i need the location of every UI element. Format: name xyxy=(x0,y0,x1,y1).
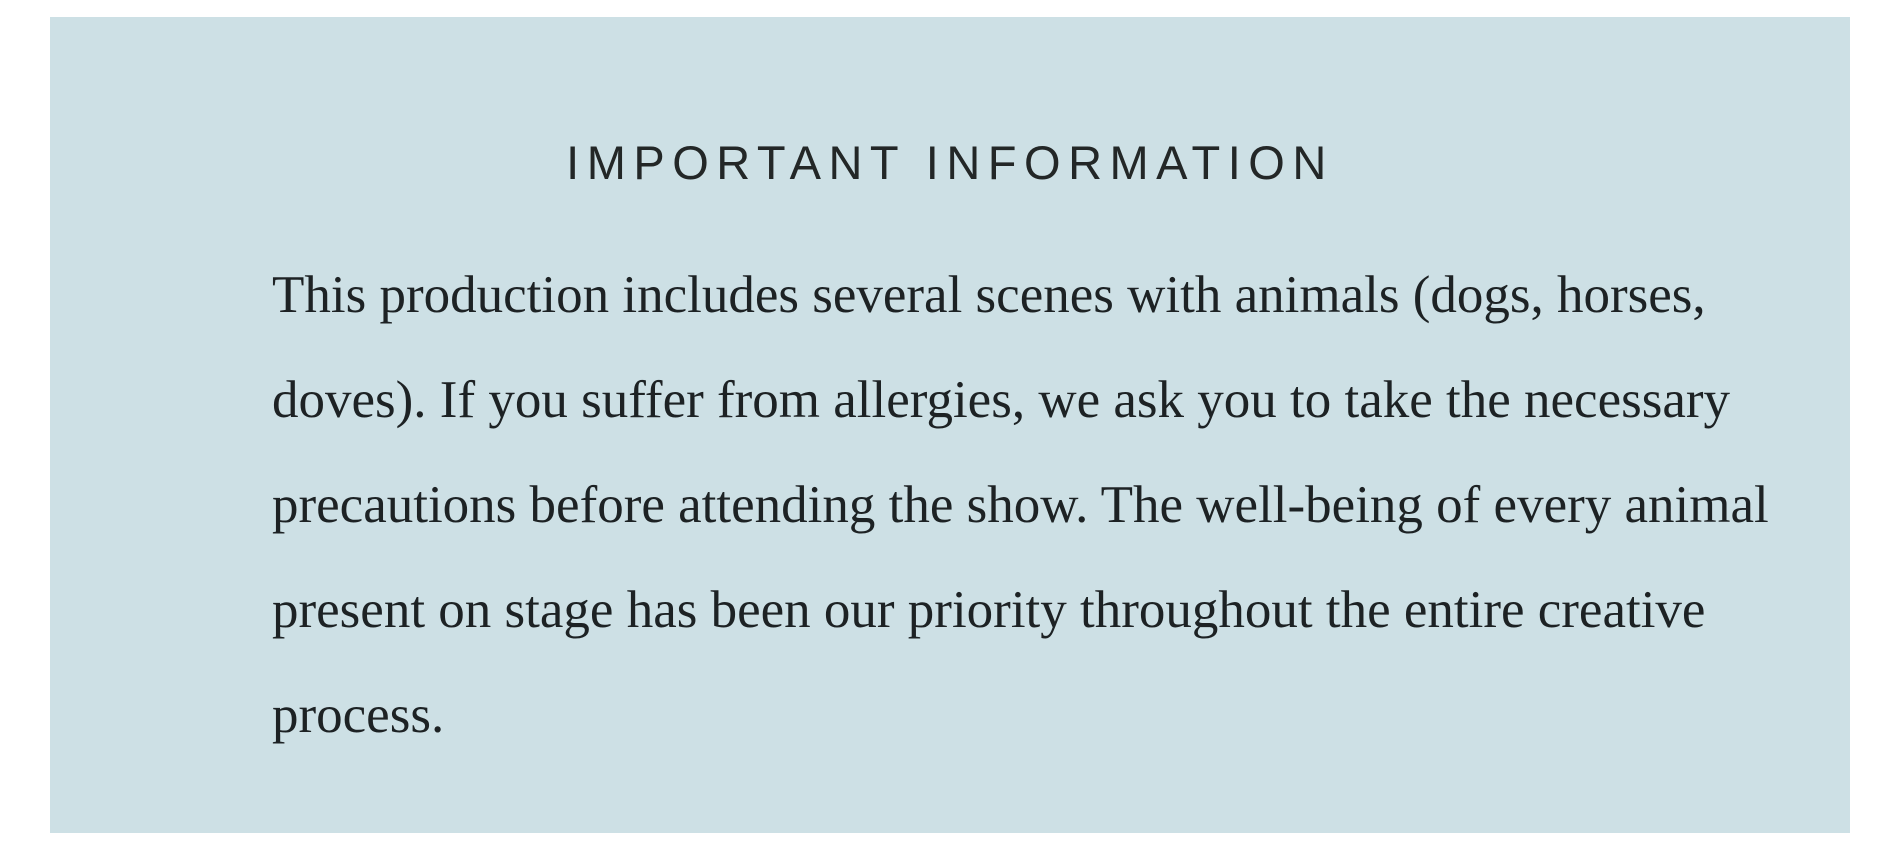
important-information-panel: IMPORTANT INFORMATION This production in… xyxy=(50,17,1850,833)
page-title: IMPORTANT INFORMATION xyxy=(50,135,1850,190)
notice-body-text: This production includes several scenes … xyxy=(272,243,1832,768)
